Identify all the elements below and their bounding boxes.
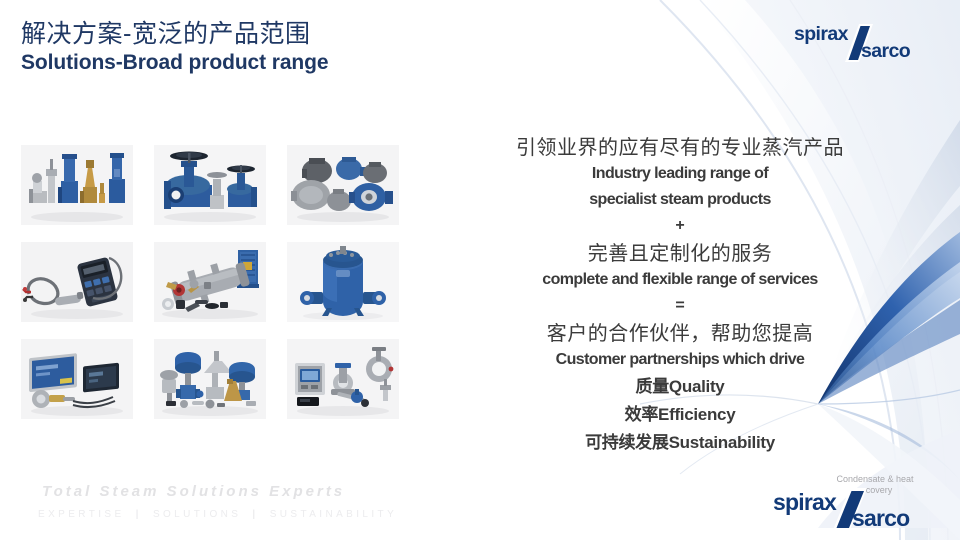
control-valves-illustration [154, 339, 266, 419]
globe-stop-valves-photo [154, 145, 266, 225]
pillar-sustainability: SUSTAINABILITY [270, 509, 397, 520]
pillar-separator-2: | [248, 509, 264, 520]
message-line-9: Customer partnerships which drive [470, 347, 890, 373]
safety-relief-valves-illustration [21, 145, 133, 225]
message-line-1: 引领业界的应有尽有的专业蒸汽产品 [470, 133, 890, 161]
pillar-solutions: SOLUTIONS [153, 509, 241, 520]
logo-word-sarco: sarco [852, 505, 910, 530]
message-line-3: specialist steam products [470, 187, 890, 213]
steam-traps-illustration [287, 145, 399, 225]
level-controls-photo [21, 339, 133, 419]
level-control-illustration [21, 339, 133, 419]
message-line-8: 客户的合作伙伴，帮助您提高 [470, 319, 890, 347]
safety-relief-valves-photo [21, 145, 133, 225]
title-chinese: 解决方案-宽泛的产品范围 [21, 18, 328, 49]
logo-word-spirax: spirax [794, 23, 849, 45]
message-operator-plus: + [470, 213, 890, 239]
spirax-sarco-logo-top: spirax sarco [793, 20, 941, 64]
slide-canvas: 解决方案-宽泛的产品范围 Solutions-Broad product ran… [0, 0, 960, 540]
message-line-efficiency: 效率Efficiency [470, 401, 890, 429]
flow-metering-illustration [287, 339, 399, 419]
product-image-grid [21, 145, 421, 433]
message-line-sustainability: 可持续发展Sustainability [470, 429, 890, 457]
page-title: 解决方案-宽泛的产品范围 Solutions-Broad product ran… [21, 18, 328, 76]
steam-traps-photo [287, 145, 399, 225]
message-line-quality: 质量Quality [470, 373, 890, 401]
footer-tagline: Total Steam Solutions Experts [42, 483, 345, 500]
logo-word-spirax: spirax [773, 489, 837, 515]
flow-metering-photo [287, 339, 399, 419]
footer-pillars: EXPERTISE | SOLUTIONS | SUSTAINABILITY [38, 509, 397, 520]
pressure-vessel-illustration [287, 242, 399, 322]
message-block: 引领业界的应有尽有的专业蒸汽产品 Industry leading range … [470, 133, 890, 457]
spirax-sarco-logo-icon: spirax sarco [772, 484, 944, 530]
spirax-sarco-logo-bottom: spirax sarco [772, 484, 944, 530]
message-line-5: 完善且定制化的服务 [470, 239, 890, 267]
heat-exchangers-fittings-photo [154, 242, 266, 322]
logo-word-sarco: sarco [861, 40, 911, 62]
deaerator-vessel-photo [287, 242, 399, 322]
pillar-separator-1: | [131, 509, 147, 520]
diagnostic-meter-illustration [21, 242, 133, 322]
globe-stop-valves-illustration [154, 145, 266, 225]
message-line-6: complete and flexible range of services [470, 267, 890, 293]
title-english: Solutions-Broad product range [21, 50, 328, 76]
heat-exchangers-illustration [154, 242, 266, 322]
message-line-2: Industry leading range of [470, 161, 890, 187]
pillar-expertise: EXPERTISE [38, 509, 125, 520]
portable-diagnostic-meter-photo [21, 242, 133, 322]
control-valves-photo [154, 339, 266, 419]
spirax-sarco-logo-icon: spirax sarco [793, 20, 941, 64]
message-operator-equals: = [470, 293, 890, 319]
